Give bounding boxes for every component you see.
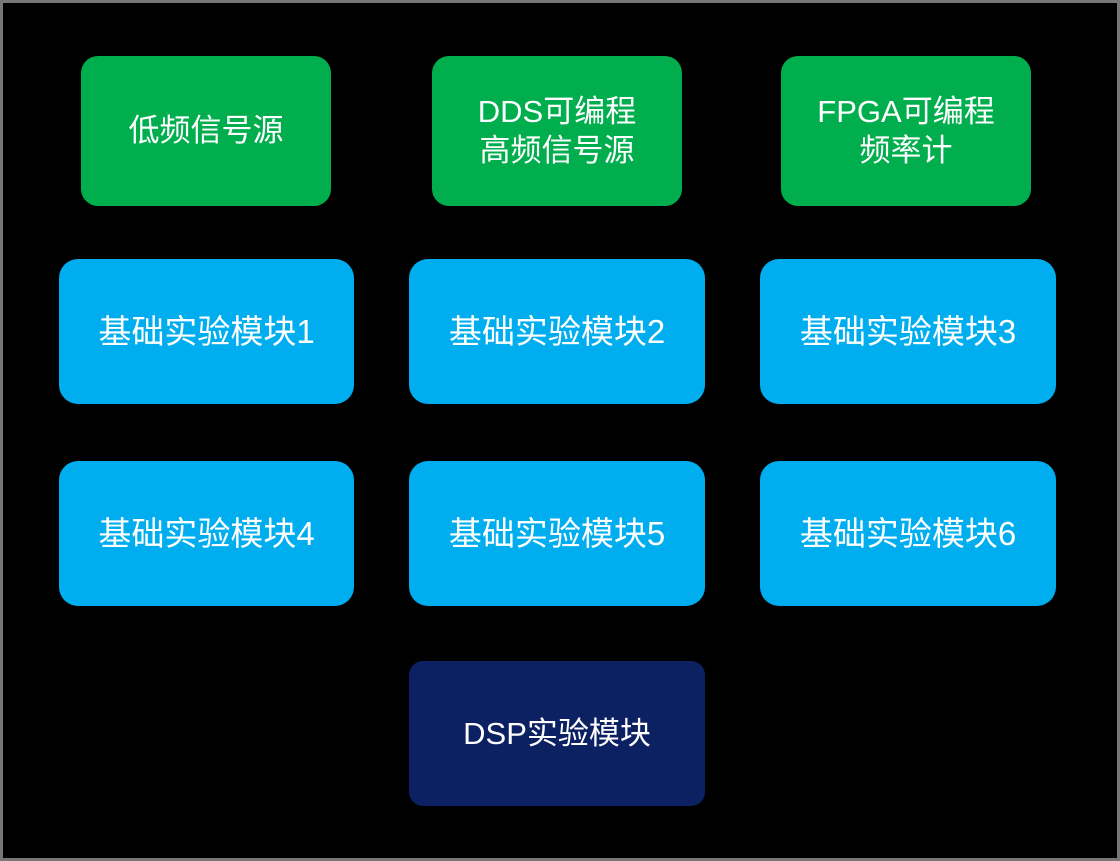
node-basic-module-1[interactable]: 基础实验模块1 — [59, 259, 354, 404]
diagram-stage: 低频信号源 DDS可编程 高频信号源 FPGA可编程 频率计 基础实验模块1 基… — [3, 3, 1117, 858]
node-label: 基础实验模块5 — [441, 513, 673, 555]
node-basic-module-4[interactable]: 基础实验模块4 — [59, 461, 354, 606]
node-basic-module-3[interactable]: 基础实验模块3 — [760, 259, 1056, 404]
node-label: DDS可编程 高频信号源 — [470, 92, 644, 170]
node-label: 基础实验模块2 — [441, 311, 673, 353]
node-basic-module-6[interactable]: 基础实验模块6 — [760, 461, 1056, 606]
node-dsp-module[interactable]: DSP实验模块 — [409, 661, 705, 806]
node-label: DSP实验模块 — [455, 714, 659, 753]
diagram-canvas: 低频信号源 DDS可编程 高频信号源 FPGA可编程 频率计 基础实验模块1 基… — [0, 0, 1120, 861]
node-label: 基础实验模块6 — [792, 513, 1024, 555]
node-basic-module-2[interactable]: 基础实验模块2 — [409, 259, 705, 404]
node-basic-module-5[interactable]: 基础实验模块5 — [409, 461, 705, 606]
node-label: 基础实验模块4 — [90, 513, 322, 555]
node-label: 低频信号源 — [121, 111, 292, 150]
node-low-freq-source[interactable]: 低频信号源 — [81, 56, 331, 206]
node-label: 基础实验模块3 — [792, 311, 1024, 353]
node-fpga-freq-counter[interactable]: FPGA可编程 频率计 — [781, 56, 1031, 206]
node-label: 基础实验模块1 — [90, 311, 322, 353]
node-label: FPGA可编程 频率计 — [809, 92, 1002, 170]
node-dds-hf-source[interactable]: DDS可编程 高频信号源 — [432, 56, 682, 206]
